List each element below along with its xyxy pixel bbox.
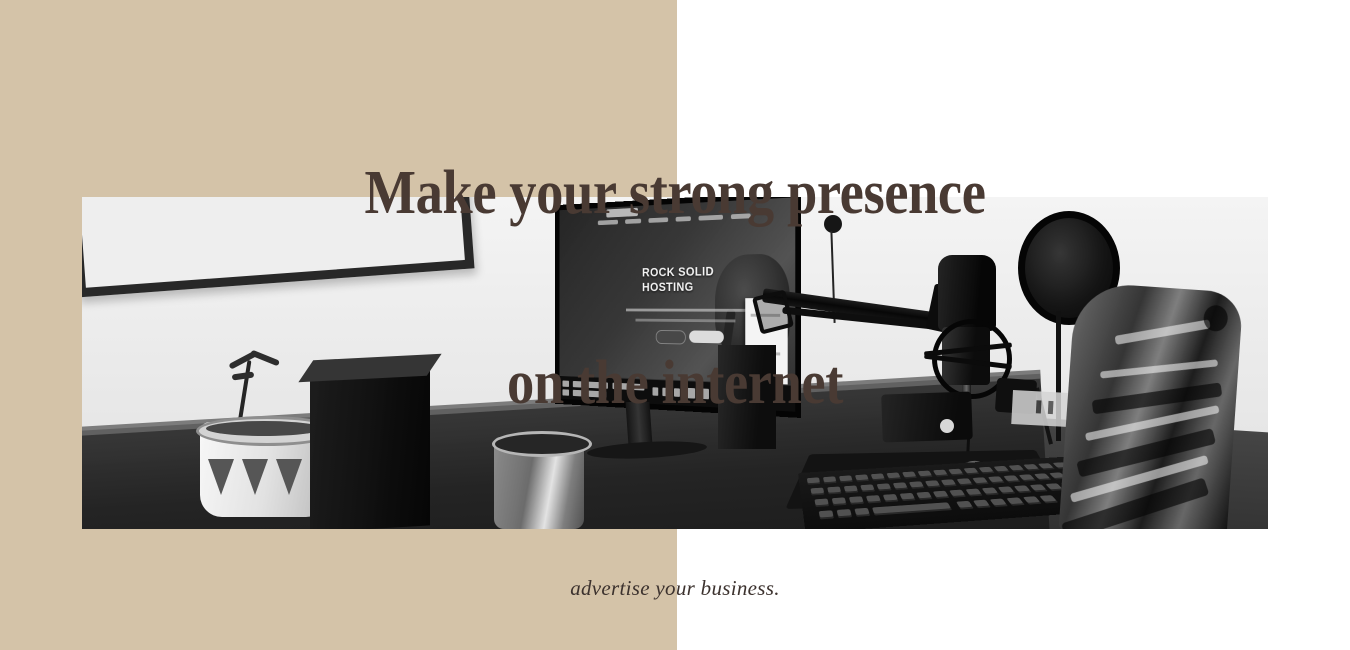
subtitle: advertise your business. — [0, 576, 1350, 601]
headline-line-2: on the internet — [81, 352, 1269, 415]
headline: Make your strong presence on the interne… — [81, 36, 1269, 542]
headline-line-1: Make your strong presence — [81, 162, 1269, 225]
poster-canvas: Make your strong presence on the interne… — [0, 0, 1350, 650]
